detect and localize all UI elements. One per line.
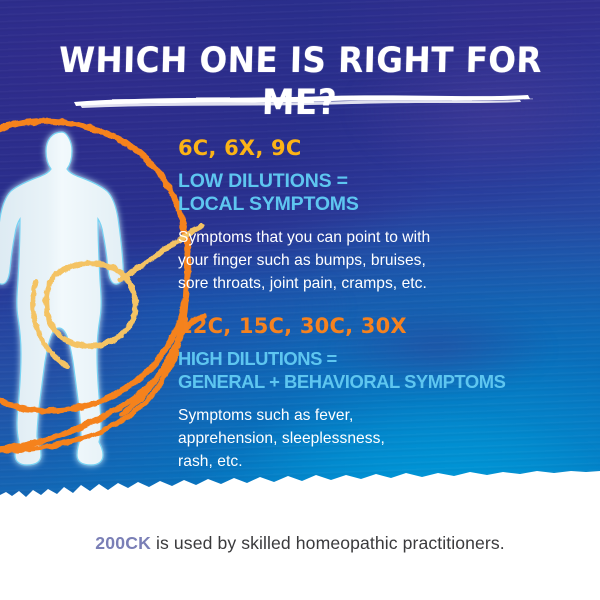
footer-note: 200CK is used by skilled homeopathic pra… [0, 533, 600, 554]
human-body-silhouette-icon [0, 128, 166, 505]
description-low: Symptoms that you can point to with your… [178, 226, 584, 295]
footer-code: 200CK [95, 533, 151, 553]
dilution-block-high: 12C, 15C, 30C, 30X HIGH DILUTIONS = GENE… [178, 314, 584, 473]
content-column: 6C, 6X, 9C LOW DILUTIONS = LOCAL SYMPTOM… [178, 136, 584, 473]
subtitle-low: LOW DILUTIONS = LOCAL SYMPTOMS [178, 170, 584, 215]
description-high: Symptoms such as fever, apprehension, sl… [178, 404, 584, 473]
dose-label-high: 12C, 15C, 30C, 30X [178, 314, 584, 339]
brush-underline-icon [0, 90, 600, 112]
poster-panel: WHICH ONE IS RIGHT FOR ME? [0, 0, 600, 505]
infographic-page: { "header": { "title": "WHICH ONE IS RIG… [0, 0, 600, 600]
footer-text: is used by skilled homeopathic practitio… [151, 533, 505, 553]
subtitle-high: HIGH DILUTIONS = GENERAL + BEHAVIORAL SY… [178, 348, 584, 393]
dose-label-low: 6C, 6X, 9C [178, 136, 584, 161]
dilution-block-low: 6C, 6X, 9C LOW DILUTIONS = LOCAL SYMPTOM… [178, 136, 584, 295]
